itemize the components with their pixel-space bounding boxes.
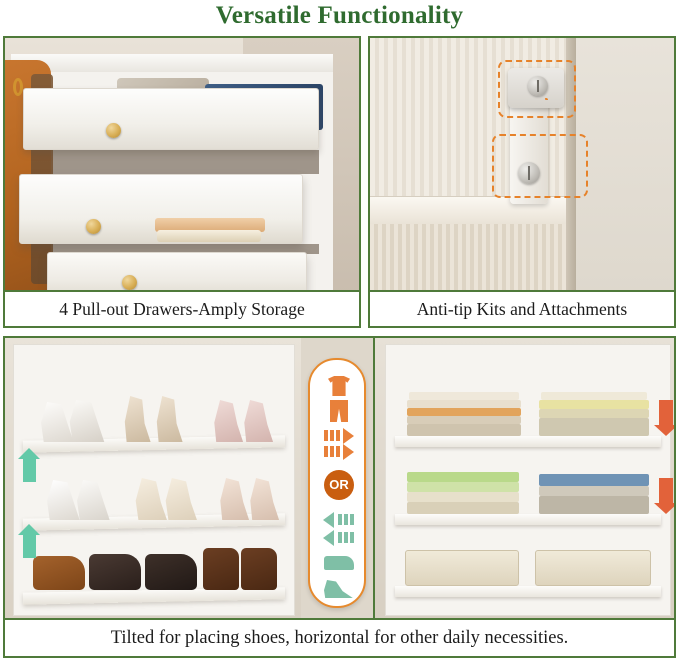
folded-stack [539, 418, 649, 436]
or-badge: OR [324, 470, 354, 500]
highlight-outline-top [498, 60, 576, 118]
arrow-left-icon [323, 512, 334, 528]
arrow-up-icon [23, 458, 36, 482]
pants-icon [330, 400, 348, 422]
folded-stack [407, 482, 519, 492]
shoe-oxford [33, 556, 85, 590]
horizontal-shelf-1 [395, 436, 661, 447]
caption-drawers: 4 Pull-out Drawers-Amply Storage [5, 290, 359, 326]
folded-stack [539, 474, 649, 486]
drawer-front-1[interactable] [23, 88, 319, 150]
horizontal-shelf-3 [395, 586, 661, 597]
arrow-up-icon [23, 534, 36, 558]
shoe-oxford [145, 554, 197, 590]
folded-stack [539, 400, 649, 409]
mode-indicator-strip: OR [308, 358, 366, 608]
drawer-knob[interactable] [86, 219, 101, 234]
anti-tip-photo [370, 38, 674, 290]
arrow-down-icon [659, 400, 673, 426]
folded-stack [539, 409, 649, 418]
boot [203, 548, 239, 590]
high-heel-icon [324, 580, 354, 598]
drawer-knob[interactable] [106, 123, 121, 138]
highlight-outline-bottom [492, 134, 588, 198]
folded-stack [539, 496, 649, 514]
caption-anti-tip: Anti-tip Kits and Attachments [370, 290, 674, 326]
shoe-icon [324, 556, 354, 570]
tilt-photo: OR [5, 338, 674, 618]
folded-stack [407, 492, 519, 502]
storage-basket [405, 550, 519, 586]
folded-stack [407, 400, 521, 408]
arrow-right-icon [343, 444, 354, 460]
page-title: Versatile Functionality [0, 2, 679, 30]
arrow-right-icon [343, 428, 354, 444]
boot [241, 548, 277, 590]
arrow-down-icon [659, 478, 673, 504]
storage-basket [535, 550, 651, 586]
folded-stack [407, 502, 519, 514]
horizontal-shelf-2 [395, 514, 661, 525]
shelf-scene [373, 338, 674, 618]
folded-stack [407, 472, 519, 482]
t-shirt-icon [328, 376, 350, 396]
folded-stack [407, 408, 521, 416]
folded-stack [541, 392, 647, 400]
folded-towel [157, 230, 261, 242]
product-infographic: Versatile Functionality [0, 0, 679, 663]
folded-stack [409, 392, 519, 400]
drawers-photo [5, 38, 359, 290]
folded-stack [539, 486, 649, 496]
dresser-top [11, 54, 333, 72]
panel-tilt: OR Tilted for placing shoes, horizontal … [3, 336, 676, 658]
shoe-oxford [89, 554, 141, 590]
panel-drawers: 4 Pull-out Drawers-Amply Storage [3, 36, 361, 328]
hook-icon [13, 78, 23, 96]
folded-stack [407, 424, 521, 436]
panel-anti-tip: Anti-tip Kits and Attachments [368, 36, 676, 328]
drawer-knob[interactable] [122, 275, 137, 290]
drawer-front-3[interactable] [47, 252, 307, 290]
caption-tilt: Tilted for placing shoes, horizontal for… [5, 618, 674, 656]
folded-stack [407, 416, 521, 424]
arrow-left-icon [323, 530, 334, 546]
shoe-rack-scene [5, 338, 301, 618]
